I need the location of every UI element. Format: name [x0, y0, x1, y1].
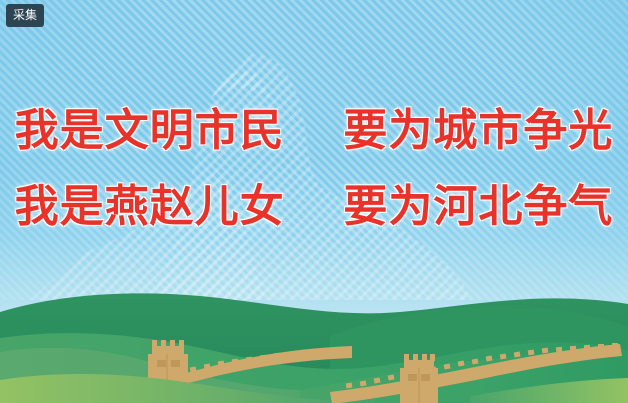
landscape-illustration [0, 268, 628, 403]
watchtower-right [400, 354, 438, 403]
capture-button[interactable]: 采集 [6, 4, 44, 27]
banner-image: 我是文明市民 要为城市争光 我是燕赵儿女 要为河北争气 采集 [0, 0, 628, 403]
diagonal-stripe-overlay [0, 0, 628, 300]
